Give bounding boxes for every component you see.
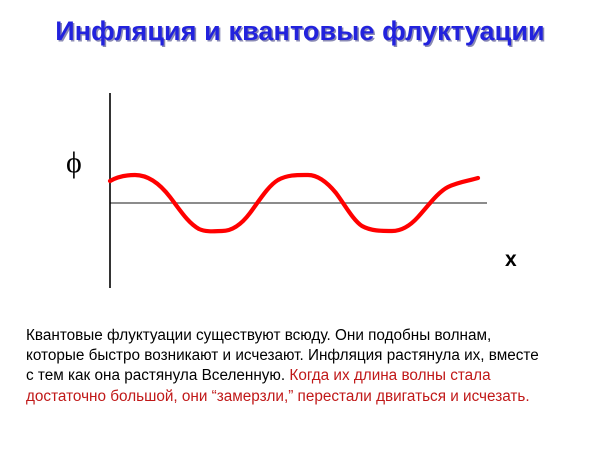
page-title: Инфляция и квантовые флуктуации [55, 14, 544, 48]
body-line-4-text-red: достаточно большой, они “замерзли,” пере… [26, 388, 530, 405]
wave-plot-svg [0, 60, 600, 310]
body-line-2: которые быстро возникают и исчезают. Инф… [26, 346, 582, 366]
body-line-1: Квантовые флуктуации существуют всюду. О… [26, 326, 582, 346]
title-block: Инфляция и квантовые флуктуации [0, 14, 600, 48]
slide-canvas: Инфляция и квантовые флуктуации ϕ x Кван… [0, 0, 600, 450]
body-text-block: Квантовые флуктуации существуют всюду. О… [26, 326, 582, 407]
body-line-3-text-red: Когда их длина волны стала [289, 367, 490, 384]
x-axis-label-x: x [505, 249, 517, 270]
body-line-3: с тем как она растянула Вселенную. Когда… [26, 366, 582, 386]
body-line-4: достаточно большой, они “замерзли,” пере… [26, 387, 582, 407]
body-line-2-text: которые быстро возникают и исчезают. Инф… [26, 347, 539, 364]
body-line-3-text-black: с тем как она растянула Вселенную. [26, 367, 289, 384]
y-axis-label-phi: ϕ [66, 148, 82, 178]
body-line-1-text: Квантовые флуктуации существуют всюду. О… [26, 327, 491, 344]
wave-figure: ϕ x [0, 60, 600, 310]
